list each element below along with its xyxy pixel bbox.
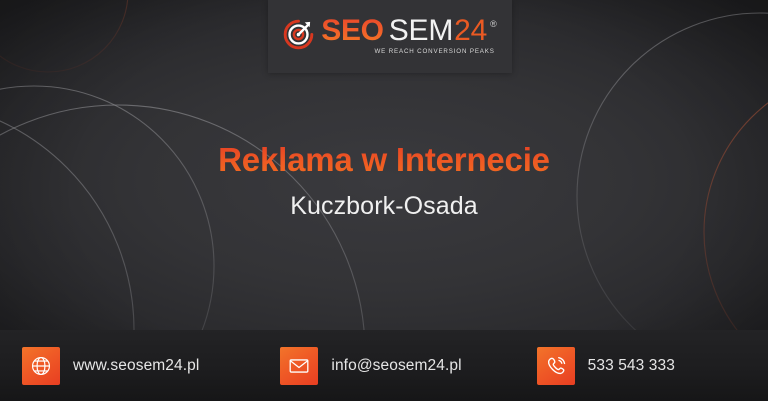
logo-text-block: SEO SEM 24 ® WE REACH CONVERSION PEAKS — [321, 16, 497, 55]
page-subtitle: Kuczbork-Osada — [0, 191, 768, 221]
logo-seo-text: SEO — [321, 16, 383, 46]
target-dartboard-icon — [283, 19, 314, 50]
contact-item-email[interactable]: info@seosem24.pl — [280, 330, 461, 401]
logo-wordmark: SEO SEM 24 ® — [321, 16, 497, 46]
contact-item-website[interactable]: www.seosem24.pl — [22, 330, 199, 401]
email-label: info@seosem24.pl — [331, 357, 461, 375]
logo-number-text: 24 — [454, 16, 487, 46]
hero-section: Reklama w Internecie Kuczbork-Osada — [0, 140, 768, 221]
decor-circle-top-left-red — [0, 0, 128, 72]
website-label: www.seosem24.pl — [73, 357, 199, 375]
seo-advertising-banner: SEO SEM 24 ® WE REACH CONVERSION PEAKS R… — [0, 0, 768, 401]
page-title: Reklama w Internecie — [0, 140, 768, 180]
logo-panel: SEO SEM 24 ® WE REACH CONVERSION PEAKS — [268, 0, 512, 73]
contact-item-phone[interactable]: 533 543 333 — [537, 330, 675, 401]
logo-tagline: WE REACH CONVERSION PEAKS — [321, 49, 497, 55]
globe-icon — [22, 347, 60, 385]
logo-lockup: SEO SEM 24 ® WE REACH CONVERSION PEAKS — [283, 16, 497, 55]
registered-trademark-icon: ® — [490, 20, 497, 29]
envelope-icon — [280, 347, 318, 385]
contact-footer: www.seosem24.pl info@seosem24.pl 533 543… — [0, 330, 768, 401]
logo-sem-text: SEM — [389, 16, 453, 46]
phone-label: 533 543 333 — [588, 357, 675, 375]
phone-icon — [537, 347, 575, 385]
